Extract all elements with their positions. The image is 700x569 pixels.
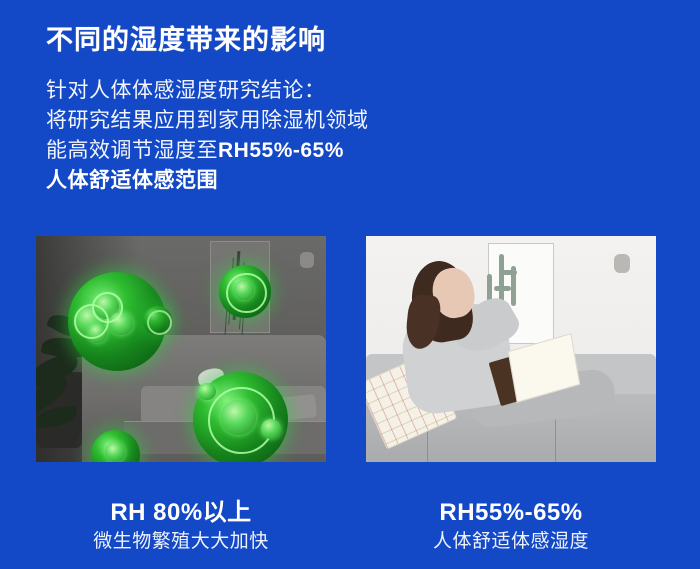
caption-high-humidity: RH 80%以上 微生物繁殖大大加快 bbox=[36, 498, 326, 556]
caption-title: RH55%-65% bbox=[366, 498, 656, 528]
photo-high-humidity bbox=[36, 236, 326, 462]
bright-living-room-illustration bbox=[366, 236, 656, 462]
body-line-3: 能高效调节湿度至RH55%-65% bbox=[46, 136, 476, 166]
caption-comfort-humidity: RH55%-65% 人体舒适体感湿度 bbox=[366, 498, 656, 556]
body-line-3-emphasis: RH55%-65% bbox=[218, 139, 344, 162]
body-line-4: 人体舒适体感范围 bbox=[46, 166, 476, 196]
body-copy-block: 针对人体体感湿度研究结论： 将研究结果应用到家用除湿机领域 能高效调节湿度至RH… bbox=[46, 76, 476, 196]
caption-title: RH 80%以上 bbox=[36, 498, 326, 528]
body-line-2: 将研究结果应用到家用除湿机领域 bbox=[46, 106, 476, 136]
cactus-arm bbox=[494, 286, 511, 291]
caption-subtitle: 微生物繁殖大大加快 bbox=[36, 528, 326, 556]
microbe-icon bbox=[219, 265, 271, 317]
photo-row bbox=[36, 236, 668, 462]
wall-knob-icon bbox=[300, 252, 314, 268]
body-line-3-prefix: 能高效调节湿度至 bbox=[46, 139, 218, 162]
wall-knob-icon bbox=[614, 254, 630, 273]
cactus-arm bbox=[501, 270, 517, 275]
page-title: 不同的湿度带来的影响 bbox=[46, 18, 326, 57]
caption-subtitle: 人体舒适体感湿度 bbox=[366, 528, 656, 556]
humidity-infographic-poster: 不同的湿度带来的影响 针对人体体感湿度研究结论： 将研究结果应用到家用除湿机领域… bbox=[0, 0, 700, 569]
microbe-icon bbox=[193, 372, 289, 462]
dim-living-room-illustration bbox=[36, 236, 326, 462]
photo-comfort-humidity bbox=[366, 236, 656, 462]
body-line-1: 针对人体体感湿度研究结论： bbox=[46, 76, 476, 106]
microbe-icon bbox=[143, 306, 172, 335]
